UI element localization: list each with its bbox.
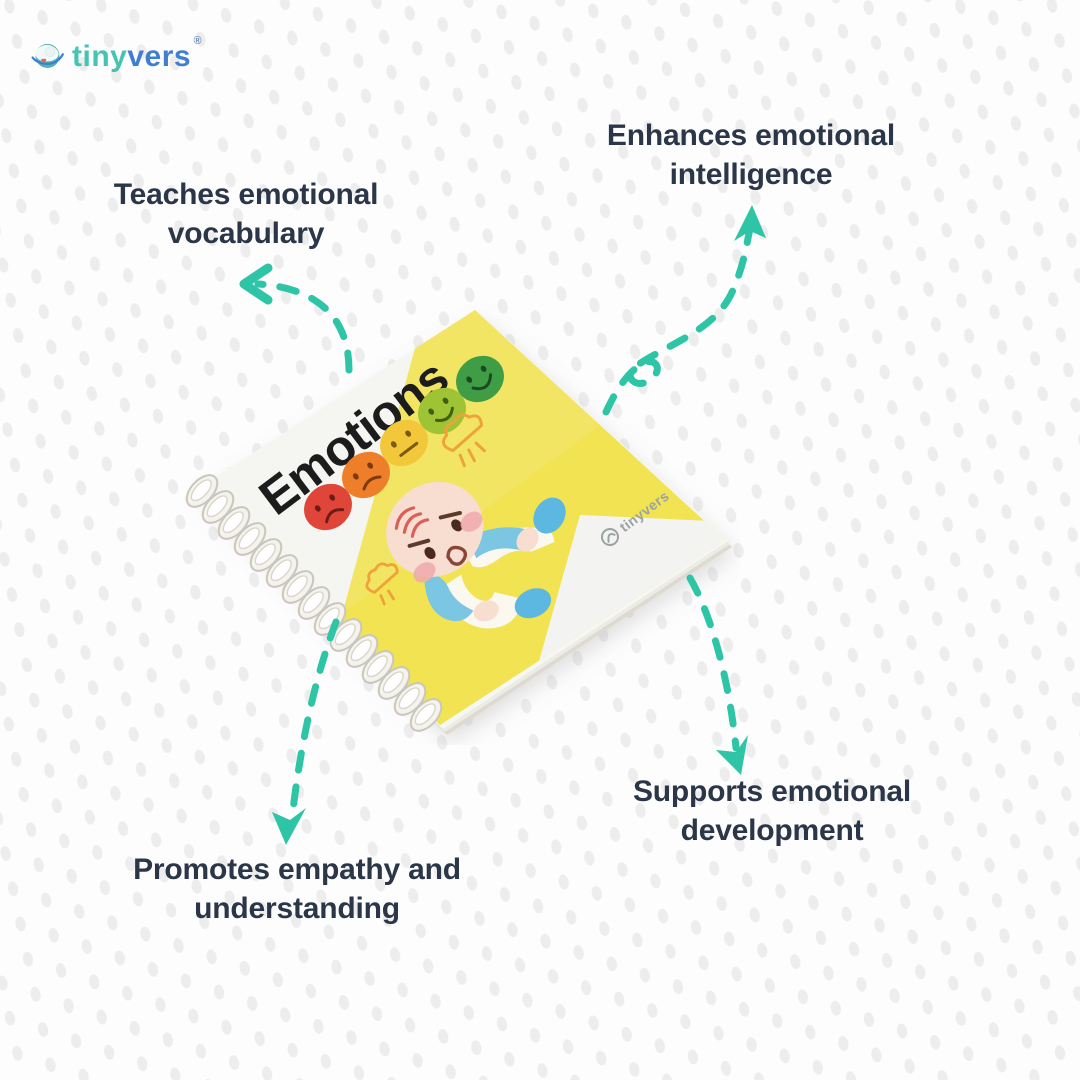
callout-line: Enhances emotional xyxy=(556,117,946,156)
callout-enhances-emotional-intelligence: Enhances emotional intelligence xyxy=(556,117,946,194)
product-image-emotions-notebook[interactable]: Emotions xyxy=(180,285,740,745)
callout-promotes-empathy-and-understanding: Promotes empathy and understanding xyxy=(82,851,512,928)
brand-logo[interactable]: tinyvers® xyxy=(31,40,191,74)
callout-line: understanding xyxy=(82,890,512,929)
callout-line: Teaches emotional xyxy=(60,176,432,215)
poster-canvas: tinyvers® xyxy=(0,0,1080,1080)
callout-line: intelligence xyxy=(556,156,946,195)
tinyvers-orb-heart-icon xyxy=(31,40,65,74)
brand-wordmark: tinyvers® xyxy=(72,42,191,72)
callout-line: vocabulary xyxy=(60,215,432,254)
callout-supports-emotional-development: Supports emotional development xyxy=(592,773,952,850)
registered-trademark-symbol: ® xyxy=(193,36,202,47)
callout-line: development xyxy=(592,812,952,851)
brand-word-tiny: tiny xyxy=(72,40,127,73)
callout-teaches-emotional-vocabulary: Teaches emotional vocabulary xyxy=(60,176,432,253)
brand-word-vers: vers xyxy=(127,40,191,73)
callout-line: Promotes empathy and xyxy=(82,851,512,890)
callout-line: Supports emotional xyxy=(592,773,952,812)
